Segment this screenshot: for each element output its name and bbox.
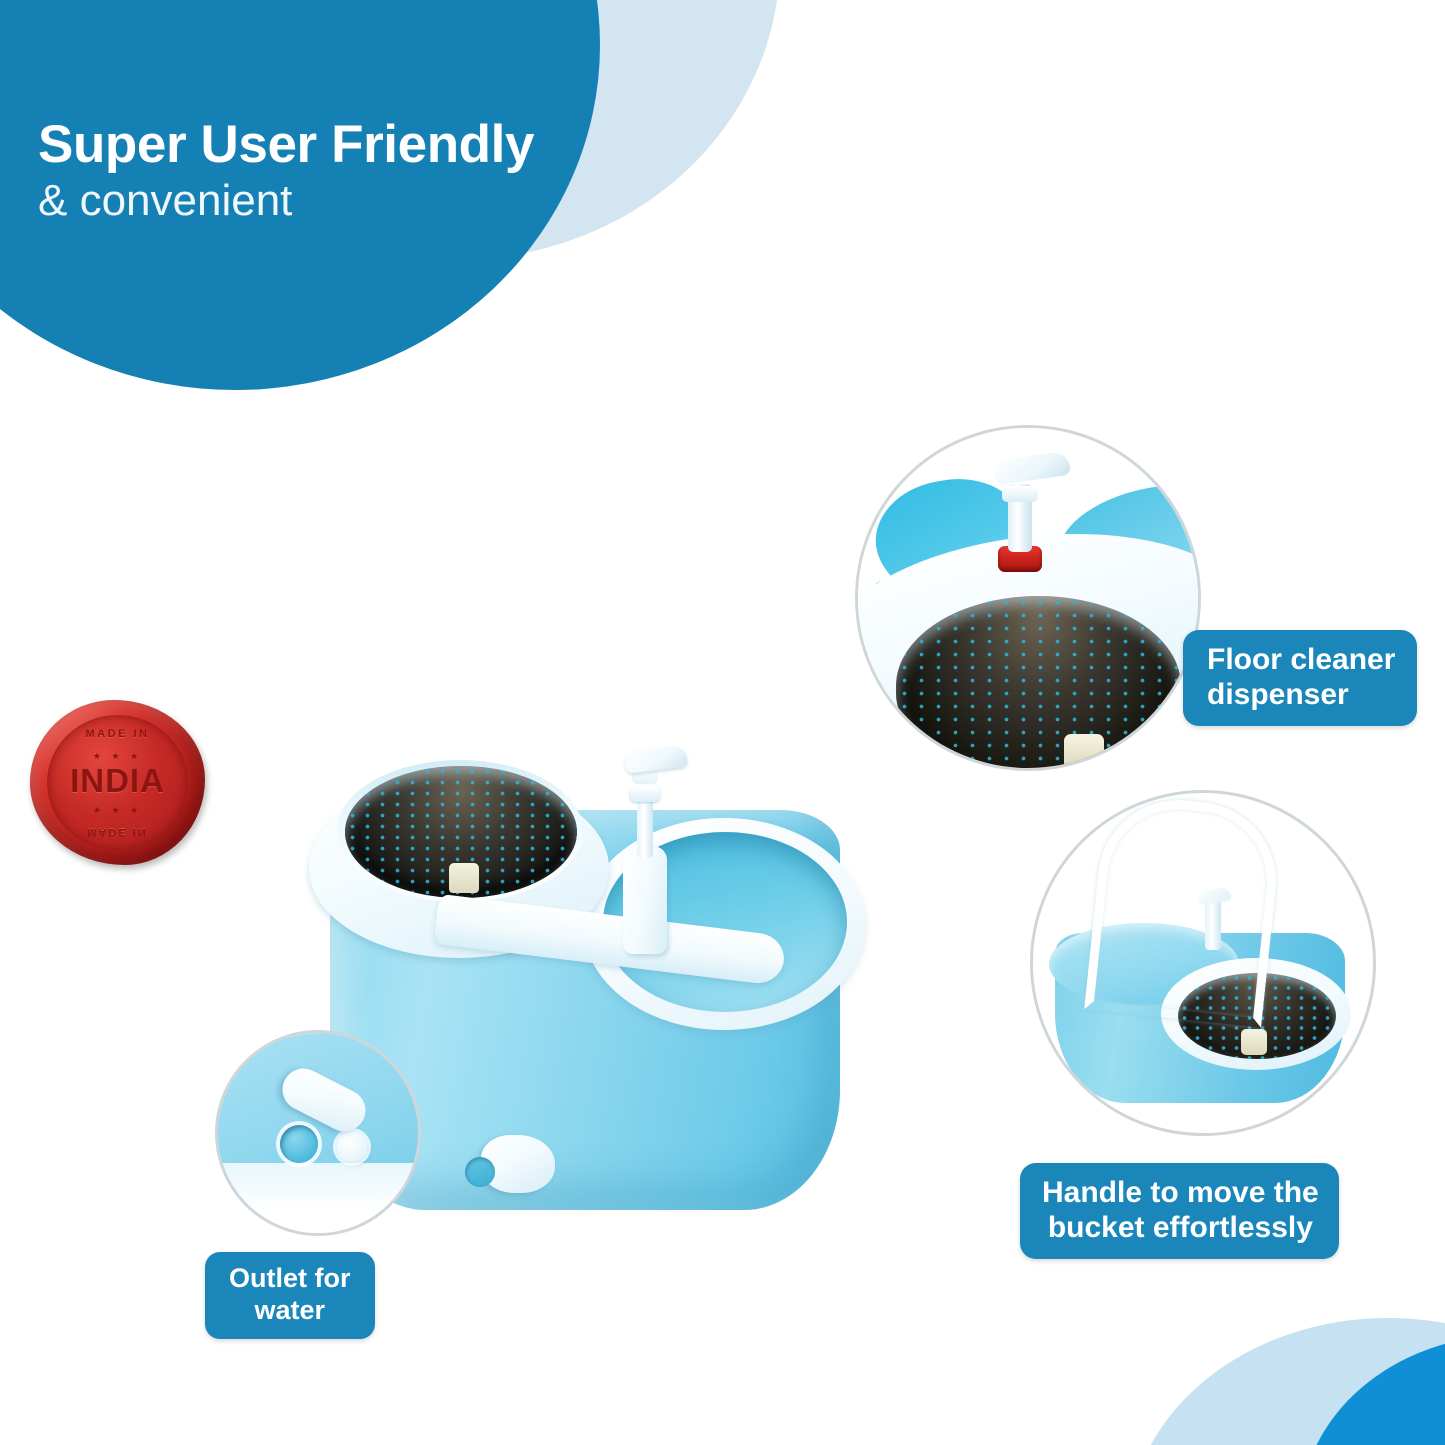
callout-label-handle: Handle to move the bucket effortlessly (1020, 1163, 1339, 1259)
callout-label-outlet-line-1: Outlet for (229, 1263, 351, 1295)
basket-center-post (1064, 734, 1104, 770)
basket-center-post (1241, 1029, 1267, 1055)
outlet-drain-hole (280, 1125, 318, 1163)
page-title: Super User Friendly (38, 116, 638, 173)
callout-circle-outlet (215, 1030, 421, 1236)
pump-neck (637, 794, 653, 858)
infographic-canvas: Super User Friendly & convenient MADE IN… (0, 0, 1445, 1445)
wax-seal-shape: MADE IN ★ ★ ★ INDIA ★ ★ ★ MADE IN (30, 700, 205, 865)
page-subtitle: & convenient (38, 173, 638, 228)
outlet-detail-floor (215, 1163, 421, 1233)
corner-decoration-light-circle (1128, 1318, 1445, 1445)
dispenser-detail-spinner-basket (896, 596, 1181, 771)
seal-made-in-text: MADE IN (47, 728, 188, 740)
callout-circle-dispenser (855, 425, 1201, 771)
callout-label-outlet-line-2: water (229, 1295, 351, 1327)
pump-collar-lower (630, 786, 660, 802)
made-in-india-seal: MADE IN ★ ★ ★ INDIA ★ ★ ★ MADE IN (30, 700, 205, 865)
carry-handle-arc (1084, 792, 1284, 1027)
pump-head-icon (624, 744, 688, 773)
callout-circle-handle (1030, 790, 1376, 1136)
headline-block: Super User Friendly & convenient (38, 116, 638, 228)
corner-decoration-blue-circle (1300, 1335, 1445, 1445)
basket-perforation-pattern (896, 596, 1181, 771)
seal-bottom-text: MADE IN (47, 826, 188, 838)
callout-label-dispenser-line-2: dispenser (1207, 677, 1395, 712)
seal-country-text: INDIA (47, 762, 188, 800)
spinner-basket (345, 766, 577, 898)
drain-outlet-plug (481, 1135, 555, 1193)
wax-seal-inner-disc: MADE IN ★ ★ ★ INDIA ★ ★ ★ MADE IN (47, 715, 188, 850)
callout-label-handle-line-1: Handle to move the (1042, 1175, 1319, 1210)
callout-label-handle-line-2: bucket effortlessly (1042, 1210, 1319, 1245)
basket-center-post (449, 863, 479, 893)
outlet-plug-cap (336, 1131, 368, 1163)
callout-label-outlet: Outlet for water (205, 1252, 375, 1339)
seal-stars-top: ★ ★ ★ (47, 751, 188, 762)
callout-label-dispenser: Floor cleaner dispenser (1183, 630, 1417, 726)
seal-stars-bottom: ★ ★ ★ (47, 805, 188, 816)
pump-holder (623, 846, 667, 954)
dispenser-pump-ring (1002, 486, 1038, 502)
callout-label-dispenser-line-1: Floor cleaner (1207, 642, 1395, 677)
